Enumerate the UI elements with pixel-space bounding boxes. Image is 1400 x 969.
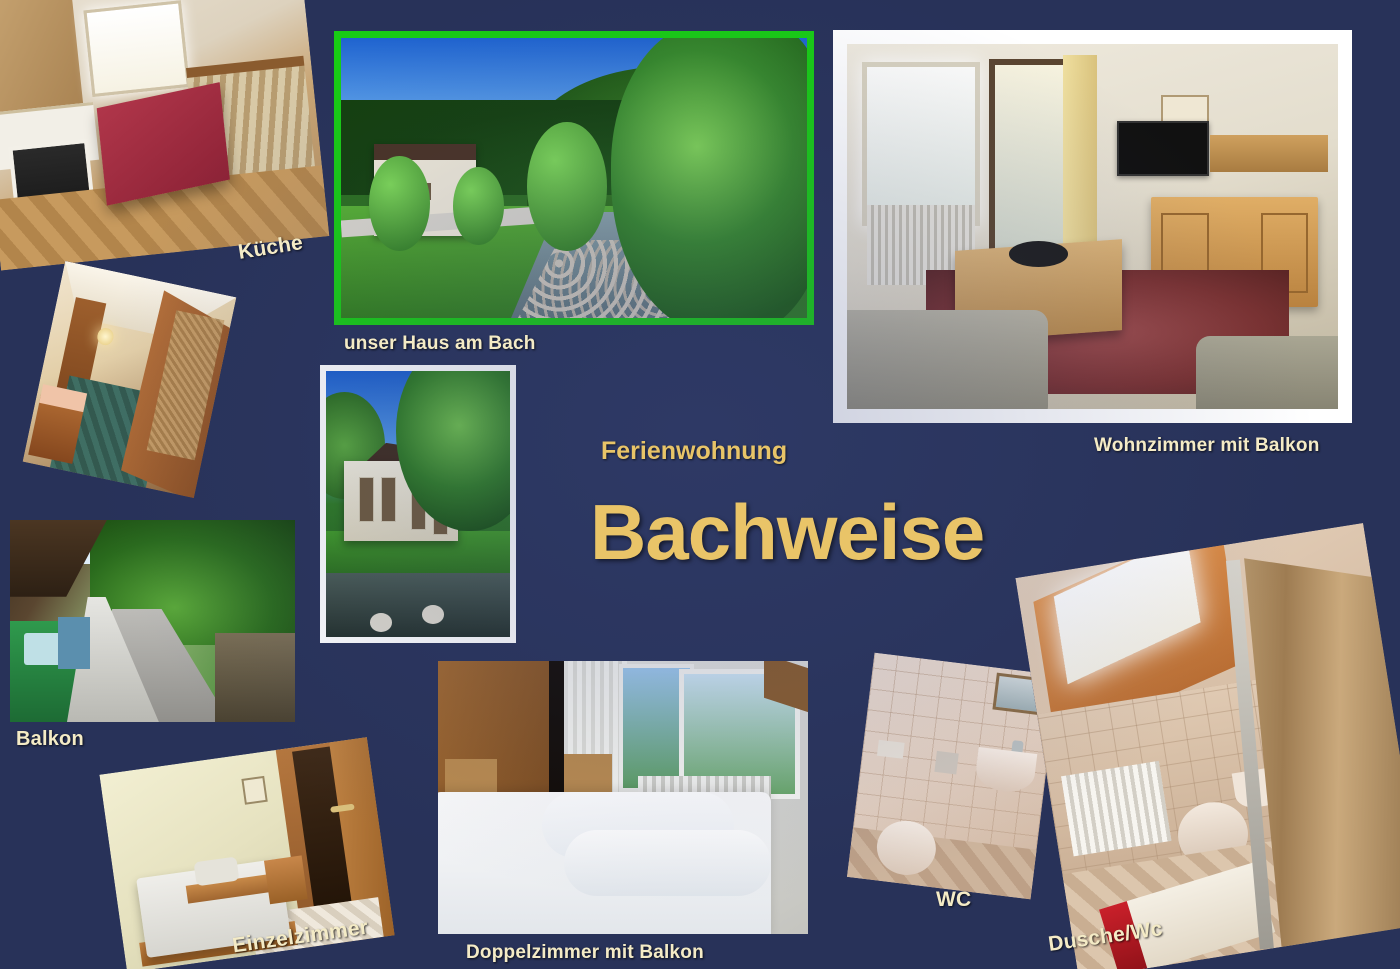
photo-valley[interactable] — [334, 31, 814, 325]
photo-hallway[interactable] — [23, 261, 237, 498]
house-scene — [326, 371, 510, 637]
kitchen-scene — [0, 0, 329, 271]
caption-wohnzimmer-mit-balkon: Wohnzimmer mit Balkon — [1094, 435, 1320, 457]
photo-shower-wc[interactable] — [1015, 523, 1400, 969]
living-room-scene — [847, 44, 1338, 409]
headline-subtitle: Ferienwohnung — [601, 437, 787, 466]
shower-wc-scene — [1015, 523, 1400, 969]
double-room-scene — [438, 661, 808, 934]
valley-scene — [341, 38, 807, 318]
photo-double-room[interactable] — [438, 661, 808, 934]
photo-wc[interactable] — [847, 653, 1058, 900]
headline-title: Bachweise — [590, 487, 984, 578]
caption-unser-haus-am-bach: unser Haus am Bach — [344, 333, 536, 355]
hallway-scene — [23, 261, 237, 498]
photo-balcony[interactable] — [10, 520, 295, 722]
wc-scene — [847, 653, 1058, 900]
photo-living-room[interactable] — [833, 30, 1352, 423]
balcony-scene — [10, 520, 295, 722]
photo-kitchen[interactable] — [0, 0, 329, 271]
caption-doppelzimmer-mit-balkon: Doppelzimmer mit Balkon — [466, 942, 704, 964]
collage-canvas: Küche unser Haus am Bach — [0, 0, 1400, 969]
caption-wc: WC — [936, 888, 971, 912]
photo-house[interactable] — [320, 365, 516, 643]
caption-balkon: Balkon — [16, 728, 84, 751]
